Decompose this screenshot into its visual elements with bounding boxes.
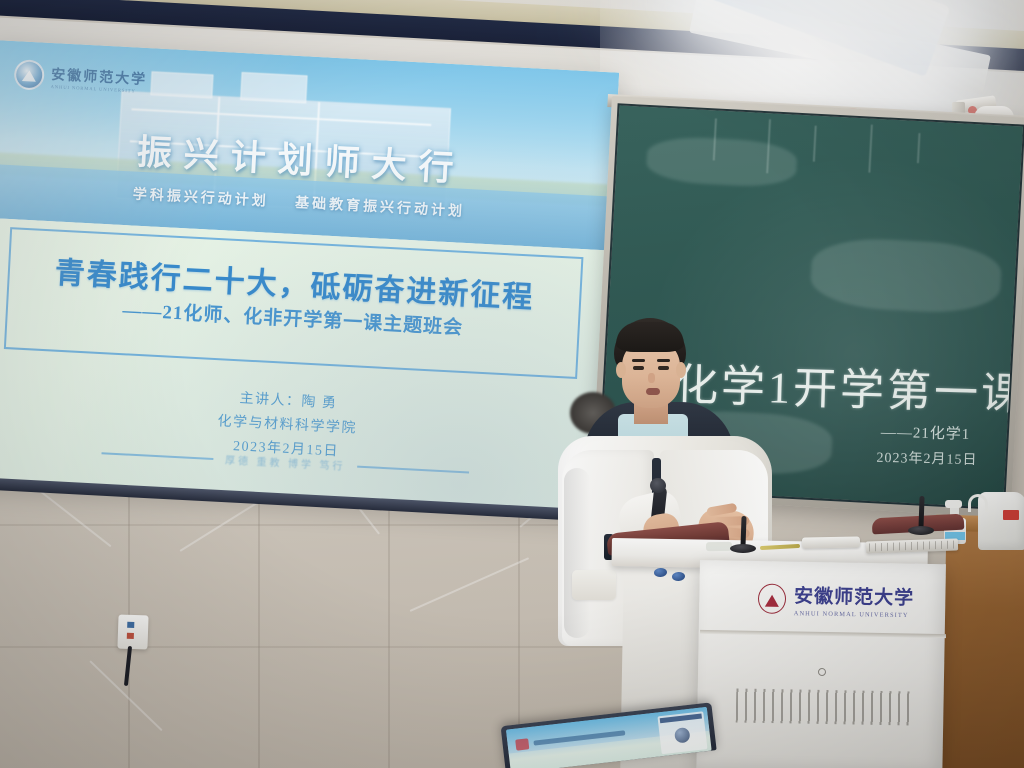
jacket-pocket-left: [572, 570, 616, 600]
microphone-base-1: [730, 544, 756, 553]
right-eye: [658, 366, 669, 370]
sleeve-shadow: [564, 468, 590, 638]
university-seal-icon: [758, 584, 787, 614]
podium-emblem-cn: 安徽师范大学: [794, 581, 914, 610]
motto-rule-right: [357, 465, 469, 473]
podium-vent-grille: [736, 688, 913, 725]
motto-rule-left: [101, 452, 213, 460]
right-ear: [676, 362, 686, 378]
slide-surface: 安徽师范大学 ANHUI NORMAL UNIVERSITY 振兴计划师大行 学…: [0, 40, 619, 512]
bag-handle: [968, 494, 988, 512]
slide-body: 青春践行二十大，砥砺奋进新征程 ——21化师、化非开学第一课主题班会 主讲人：陶…: [0, 218, 610, 512]
right-brow: [657, 359, 670, 362]
socket-port-power-icon: [127, 633, 134, 639]
desk-coaster: [706, 542, 732, 551]
left-eye: [633, 366, 644, 370]
podium-emblem-en: ANHUI NORMAL UNIVERSITY: [794, 610, 914, 619]
left-brow: [632, 359, 645, 362]
hair-fringe: [616, 322, 684, 352]
bag-label-icon: [1003, 510, 1019, 520]
plastic-bag[interactable]: [978, 492, 1024, 550]
classroom-scene: 安徽师范大学 ANHUI NORMAL UNIVERSITY 振兴计划师大行 学…: [0, 0, 1024, 768]
laptop-slide-logo-icon: [515, 738, 529, 750]
mouth: [646, 388, 660, 395]
left-ear: [616, 362, 626, 378]
side-desk: [941, 519, 1024, 768]
slide-banner: 安徽师范大学 ANHUI NORMAL UNIVERSITY 振兴计划师大行 学…: [0, 40, 619, 251]
microphone-base-2: [908, 526, 934, 535]
wall-socket-panel[interactable]: [117, 614, 148, 649]
sanitizer-pump[interactable]: [945, 500, 962, 508]
blackboard-signature: ——21化学1: [881, 421, 971, 444]
university-seal-icon: [13, 59, 45, 91]
presentation-remote[interactable]: [802, 536, 860, 548]
projection-screen: 安徽师范大学 ANHUI NORMAL UNIVERSITY 振兴计划师大行 学…: [0, 40, 619, 512]
socket-port-data-icon: [127, 622, 134, 628]
blackboard-date: 2023年2月15日: [876, 447, 977, 469]
keyboard-keys: [869, 541, 955, 552]
podium-university-emblem: 安徽师范大学 ANHUI NORMAL UNIVERSITY: [758, 575, 929, 626]
nose: [648, 373, 655, 383]
